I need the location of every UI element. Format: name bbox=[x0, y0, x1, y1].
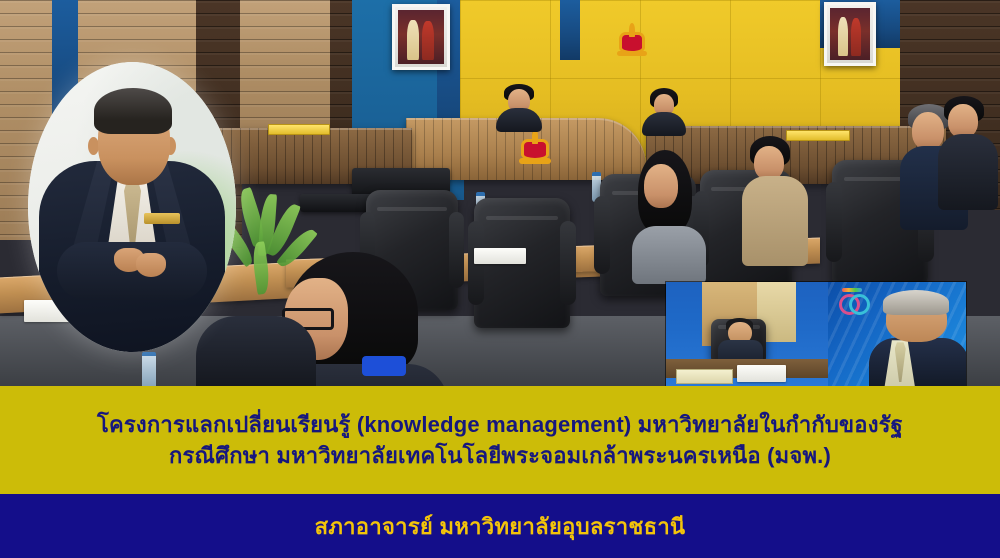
chair-wing-left-3 bbox=[594, 196, 609, 274]
nameplate-left bbox=[268, 124, 330, 135]
attendee-woman-head bbox=[644, 164, 678, 208]
chair-wing-left-5 bbox=[826, 182, 841, 261]
attendee-man-tan bbox=[744, 136, 806, 256]
presiding-officer-center bbox=[494, 84, 544, 130]
video-left-laptop bbox=[737, 365, 786, 382]
chair-wing-right-2 bbox=[560, 221, 575, 304]
attendee-man-tan-body bbox=[742, 176, 808, 266]
crown-base-2 bbox=[519, 158, 550, 164]
attendee-man-back bbox=[940, 96, 996, 206]
title-line-2: กรณีศึกษา มหาวิทยาลัยเทคโนโลยีพระจอมเกล้… bbox=[169, 443, 831, 468]
crown-base bbox=[617, 51, 646, 56]
royal-figure-right-2 bbox=[851, 18, 861, 55]
attendee-woman-center bbox=[636, 150, 702, 270]
backdrop-blue-accent bbox=[560, 0, 580, 60]
officer-body bbox=[496, 108, 542, 132]
chair-wing-right bbox=[449, 212, 464, 289]
royal-portrait-image bbox=[398, 10, 444, 64]
title-banner: โครงการแลกเปลี่ยนเรียนรู้ (knowledge man… bbox=[0, 386, 1000, 494]
water-bottle-foreground bbox=[142, 352, 156, 386]
attendee-woman-body bbox=[632, 226, 706, 284]
footer-banner: สภาอาจารย์ มหาวิทยาลัยอุบลราชธานี bbox=[0, 494, 1000, 558]
event-logo-icon bbox=[839, 288, 873, 314]
portrait-hair bbox=[94, 88, 172, 134]
royal-portrait-image-right bbox=[830, 8, 870, 60]
title-line-1: โครงการแลกเปลี่ยนเรียนรู้ (knowledge man… bbox=[97, 412, 903, 437]
royal-figure-left-2 bbox=[838, 17, 848, 55]
attendee-man-back-head bbox=[948, 104, 978, 138]
speaker-portrait-circle bbox=[28, 62, 236, 352]
conference-photo bbox=[0, 0, 1000, 386]
poster-root: โครงการแลกเปลี่ยนเรียนรู้ (knowledge man… bbox=[0, 0, 1000, 558]
portrait-name-badge bbox=[144, 213, 180, 224]
royal-figure-left bbox=[407, 20, 419, 60]
royal-emblem-backdrop bbox=[616, 22, 648, 56]
video-pane-right bbox=[828, 282, 966, 386]
royal-portrait-frame-right bbox=[824, 2, 876, 66]
video-pane-left bbox=[666, 282, 828, 386]
presiding-officer-right bbox=[640, 88, 688, 134]
officer2-body bbox=[642, 112, 686, 136]
video-right-person-body bbox=[869, 338, 966, 386]
royal-emblem-dais bbox=[518, 128, 552, 164]
paper-foreground-2 bbox=[474, 248, 526, 264]
video-right-person-hair bbox=[883, 290, 949, 315]
attendee-man-tan-head bbox=[754, 146, 784, 180]
video-left-nameplate bbox=[676, 369, 733, 383]
attendee-man-back-body bbox=[938, 134, 998, 210]
video-conference-inset bbox=[666, 282, 966, 386]
organization-name: สภาอาจารย์ มหาวิทยาลัยอุบลราชธานี bbox=[315, 509, 686, 544]
logo-ring-right bbox=[849, 294, 870, 315]
logo-bar bbox=[842, 288, 862, 292]
royal-portrait-frame bbox=[392, 4, 450, 70]
royal-figure-right bbox=[422, 21, 434, 60]
lanyard-badge bbox=[362, 356, 406, 376]
